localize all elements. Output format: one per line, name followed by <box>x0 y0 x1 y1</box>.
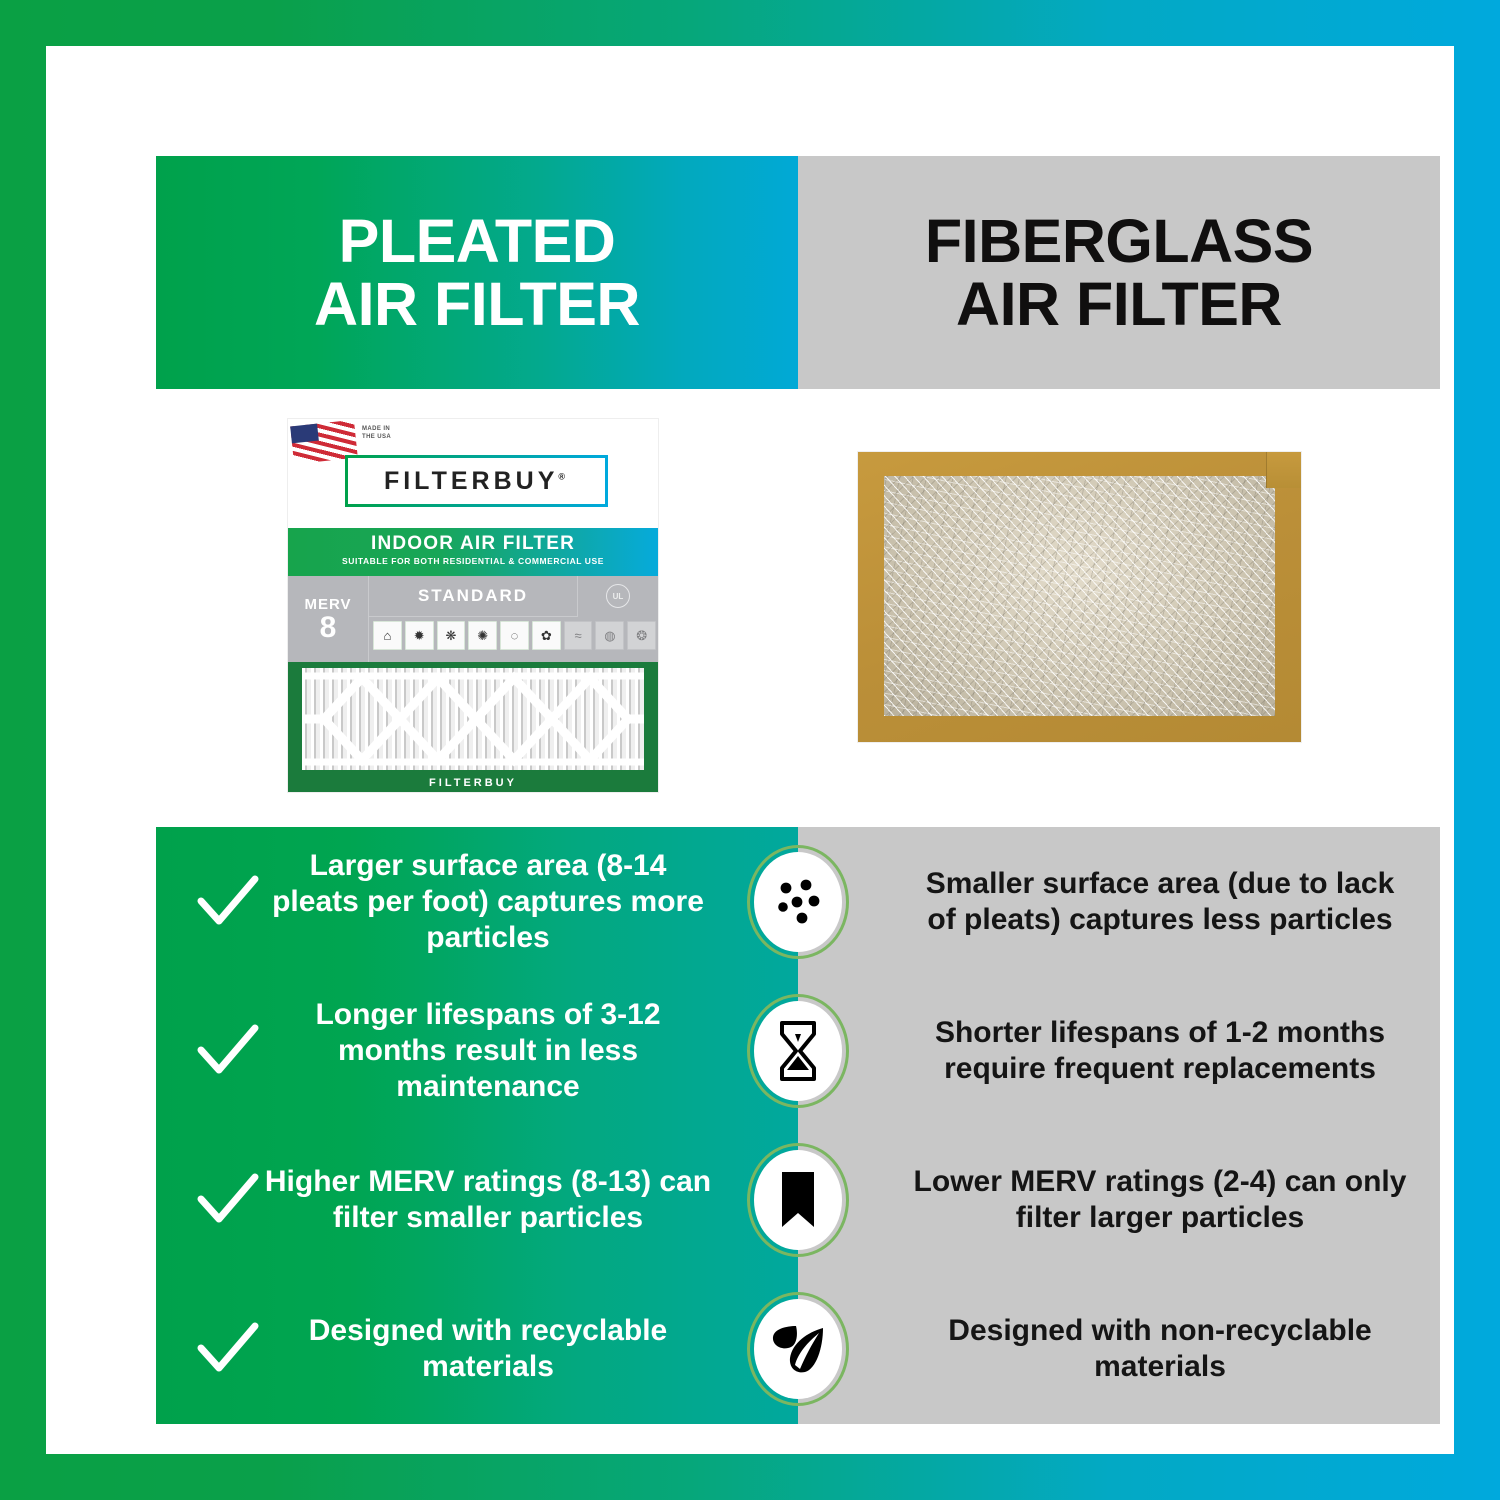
fiberglass-drawback-text: Smaller surface area (due to lack of ple… <box>908 866 1412 938</box>
pleated-benefit-text: Longer lifespans of 3-12 months result i… <box>264 997 798 1105</box>
made-in-usa-label: MADE INTHE USA <box>362 425 391 441</box>
fiberglass-drawback-text: Designed with non-recyclable materials <box>908 1313 1412 1385</box>
filterbuy-logo-box: FILTERBUY® <box>345 455 608 507</box>
header-pleated-text: PLEATED AIR FILTER <box>314 210 640 336</box>
comparison-badge <box>747 845 849 959</box>
comparison-left-cell: Higher MERV ratings (8-13) can filter sm… <box>156 1125 798 1274</box>
particles-icon <box>768 874 828 930</box>
comparison-right-cell: Lower MERV ratings (2-4) can only filter… <box>798 1125 1440 1274</box>
badge-face <box>754 1001 842 1101</box>
badge-face <box>754 1299 842 1399</box>
band-subtitle: SUITABLE FOR BOTH RESIDENTIAL & COMMERCI… <box>288 556 658 566</box>
mold-icon: ✺ <box>468 621 497 650</box>
smoke-icon: ≈ <box>564 621 593 650</box>
flag-canton <box>290 424 319 444</box>
cardboard-frame-notch <box>1266 452 1301 488</box>
pleated-benefit-text: Designed with recyclable materials <box>264 1313 798 1385</box>
pleated-product-cell: MADE INTHE USA FILTERBUY® INDOOR AIR FIL… <box>156 389 798 827</box>
badge-face <box>754 1150 842 1250</box>
pollen-icon: ❋ <box>437 621 466 650</box>
pleated-media-area: FILTERBUY <box>288 662 658 792</box>
fiberglass-filter-photo <box>858 452 1301 742</box>
fiberglass-product-cell <box>798 389 1440 827</box>
merv-label: MERV <box>304 596 351 613</box>
virus-icon: ❂ <box>627 621 656 650</box>
ul-certification-icon: UL <box>578 576 658 616</box>
fiberglass-media-texture <box>884 476 1275 716</box>
pleated-benefit-text: Larger surface area (8-14 pleats per foo… <box>264 848 798 956</box>
comparison-left-cell: Longer lifespans of 3-12 months result i… <box>156 976 798 1125</box>
grade-label: STANDARD <box>369 576 578 617</box>
comparison-section: Larger surface area (8-14 pleats per foo… <box>156 827 1440 1424</box>
comparison-left-cell: Larger surface area (8-14 pleats per foo… <box>156 827 798 976</box>
comparison-right-cell: Shorter lifespans of 1-2 months require … <box>798 976 1440 1125</box>
header-fiberglass: FIBERGLASS AIR FILTER <box>798 156 1440 389</box>
leaf-eco-icon <box>767 1320 829 1378</box>
header-pleated-line2: AIR FILTER <box>314 273 640 336</box>
merv-badge: MERV 8 <box>288 576 369 662</box>
package-footer-brand: FILTERBUY <box>288 777 658 789</box>
comparison-right-cell: Designed with non-recyclable materials <box>798 1274 1440 1423</box>
hourglass-icon <box>776 1020 820 1082</box>
outer-gradient-border: PLEATED AIR FILTER FIBERGLASS AIR FILTER <box>0 0 1500 1500</box>
support-mesh-icon <box>302 668 644 770</box>
header-fiberglass-line1: FIBERGLASS <box>925 207 1313 275</box>
header-pleated-line1: PLEATED <box>339 207 616 275</box>
product-images-section: MADE INTHE USA FILTERBUY® INDOOR AIR FIL… <box>156 389 1440 827</box>
header-band: PLEATED AIR FILTER FIBERGLASS AIR FILTER <box>156 156 1440 389</box>
pleated-filter-package: MADE INTHE USA FILTERBUY® INDOOR AIR FIL… <box>288 419 658 792</box>
vacuum-icon: ⌂ <box>373 621 402 650</box>
feature-icon-row: ⌂ ✹ ❋ ✺ ◌ ✿ ≈ ◍ ❂ <box>369 617 658 662</box>
brand-text: FILTERBUY <box>384 467 558 495</box>
fiberglass-drawback-text: Shorter lifespans of 1-2 months require … <box>908 1015 1412 1087</box>
dust-mite-icon: ✹ <box>405 621 434 650</box>
pet-dander-icon: ✿ <box>532 621 561 650</box>
header-fiberglass-text: FIBERGLASS AIR FILTER <box>925 210 1313 336</box>
comparison-badge <box>747 1143 849 1257</box>
pleated-benefit-text: Higher MERV ratings (8-13) can filter sm… <box>264 1164 798 1236</box>
checkmark-icon <box>192 1322 264 1376</box>
infographic-content: PLEATED AIR FILTER FIBERGLASS AIR FILTER <box>156 156 1440 1424</box>
brand-tm: ® <box>558 471 569 481</box>
checkmark-icon <box>192 1173 264 1227</box>
fiberglass-drawback-text: Lower MERV ratings (2-4) can only filter… <box>908 1164 1412 1236</box>
bookmark-icon <box>776 1170 820 1230</box>
header-fiberglass-line2: AIR FILTER <box>925 273 1313 336</box>
checkmark-icon <box>192 875 264 929</box>
header-pleated: PLEATED AIR FILTER <box>156 156 798 389</box>
ul-ring: UL <box>606 584 630 608</box>
package-spec-panel: MERV 8 STANDARD UL ⌂ ✹ ❋ ✺ <box>288 576 658 662</box>
lint-icon: ◌ <box>500 621 529 650</box>
indoor-air-filter-band: INDOOR AIR FILTER SUITABLE FOR BOTH RESI… <box>288 528 658 576</box>
band-title: INDOOR AIR FILTER <box>288 532 658 556</box>
badge-face <box>754 852 842 952</box>
comparison-left-cell: Designed with recyclable materials <box>156 1274 798 1423</box>
filterbuy-wordmark: FILTERBUY® <box>384 467 569 496</box>
comparison-badge <box>747 994 849 1108</box>
bacteria-icon: ◍ <box>595 621 624 650</box>
white-mat: PLEATED AIR FILTER FIBERGLASS AIR FILTER <box>46 46 1454 1454</box>
comparison-badge <box>747 1292 849 1406</box>
comparison-right-cell: Smaller surface area (due to lack of ple… <box>798 827 1440 976</box>
checkmark-icon <box>192 1024 264 1078</box>
merv-value: 8 <box>320 613 337 643</box>
